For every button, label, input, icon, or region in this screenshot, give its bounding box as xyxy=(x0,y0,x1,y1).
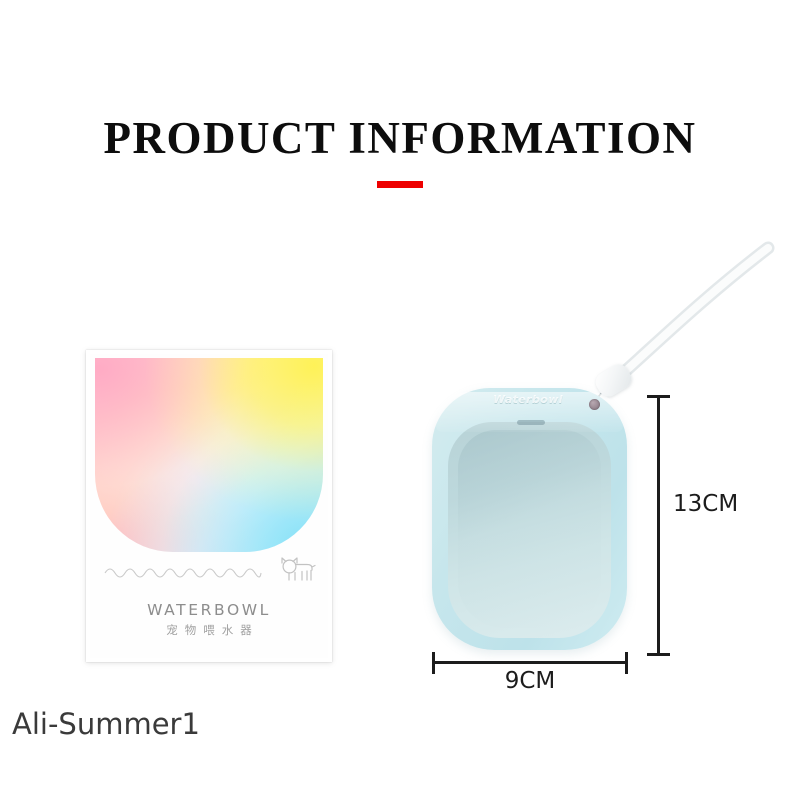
packaging-brand-name-cn: 宠物喂水器 xyxy=(90,622,328,638)
width-dimension-label: 9CM xyxy=(432,668,628,694)
product-photo: Waterbowl xyxy=(400,230,800,690)
page-title: PRODUCT INFORMATION xyxy=(0,112,800,164)
height-dimension-cap-bottom xyxy=(647,653,670,656)
width-dimension-line xyxy=(432,661,628,664)
wavy-line-icon xyxy=(104,562,262,584)
bowl-embossed-brand: Waterbowl xyxy=(478,393,578,406)
height-dimension-label: 13CM xyxy=(673,491,738,517)
height-dimension-line xyxy=(657,395,660,656)
seller-watermark: Ali-Summer1 xyxy=(12,707,200,741)
packaging-front-face: WATERBOWL 宠物喂水器 xyxy=(90,354,328,658)
packaging-gradient-artwork xyxy=(95,358,323,552)
product-information-page: PRODUCT INFORMATION WATERBOWL xyxy=(0,0,800,800)
water-inlet-slot-icon xyxy=(517,420,545,425)
packaging-brand-name: WATERBOWL xyxy=(90,601,328,619)
charging-port-icon xyxy=(589,399,600,410)
product-packaging-box: WATERBOWL 宠物喂水器 xyxy=(86,350,332,662)
water-bowl-basin-shading xyxy=(458,430,601,628)
cat-icon xyxy=(276,554,316,590)
height-dimension-cap-top xyxy=(647,395,670,398)
title-accent-rule xyxy=(377,181,423,188)
